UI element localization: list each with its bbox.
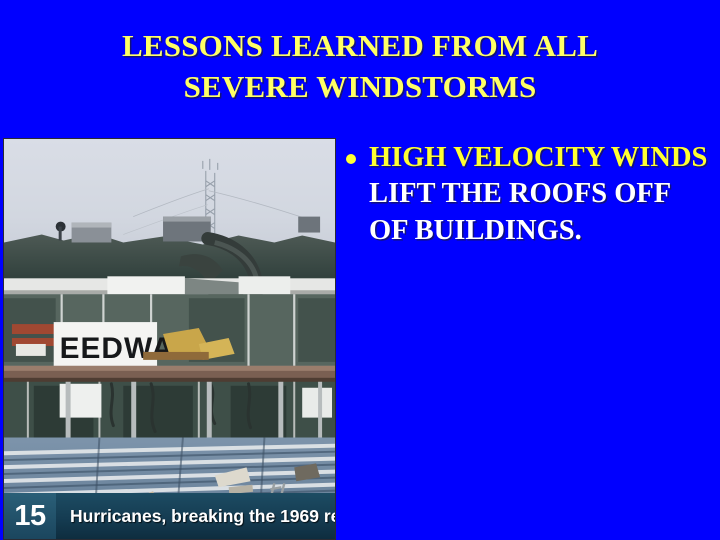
bullet-list-item: HIGH VELOCITY WINDS LIFT THE ROOFS OFF O… xyxy=(346,140,714,249)
bullet-item-text: HIGH VELOCITY WINDS LIFT THE ROOFS OFF O… xyxy=(369,140,714,249)
caption-slide-number: 15 xyxy=(4,493,56,539)
bullet-dot-icon xyxy=(346,154,356,164)
photo-caption-bar: 15 Hurricanes, breaking the 1969 record xyxy=(4,493,335,539)
body-content: HIGH VELOCITY WINDS LIFT THE ROOFS OFF O… xyxy=(346,140,714,249)
bullet-text-highlighted: HIGH VELOCITY WINDS xyxy=(369,142,707,173)
slide-photo: EEDWA xyxy=(3,138,336,540)
svg-text:EEDWA: EEDWA xyxy=(60,332,174,365)
title-line-1: LESSONS LEARNED FROM ALL xyxy=(24,26,696,67)
damaged-stadium-illustration: EEDWA xyxy=(4,139,335,539)
caption-text: Hurricanes, breaking the 1969 record xyxy=(56,506,336,527)
bullet-text-plain: LIFT THE ROOFS OFF OF BUILDINGS. xyxy=(369,178,670,245)
slide-canvas: LESSONS LEARNED FROM ALL SEVERE WINDSTOR… xyxy=(0,0,720,540)
page-title: LESSONS LEARNED FROM ALL SEVERE WINDSTOR… xyxy=(24,26,696,108)
title-line-2: SEVERE WINDSTORMS xyxy=(24,67,696,108)
